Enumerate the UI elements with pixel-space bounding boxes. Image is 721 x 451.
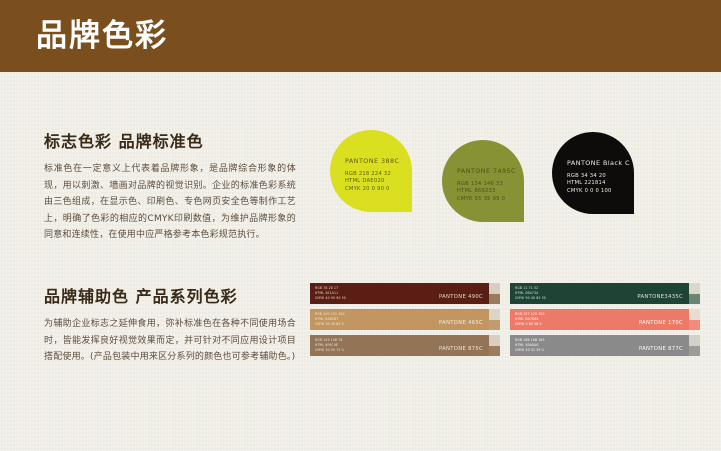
bar-cmyk: CMYK 90 40 85 30: [515, 296, 546, 301]
standard-color-droplet-7495c[interactable]: PANTONE 7495C RGB 134 146 33 HTML 869233…: [442, 140, 524, 222]
standard-color-droplet-388c[interactable]: PANTONE 388C RGB 218 224 32 HTML DAE020 …: [330, 130, 412, 212]
bar-cmyk: CMYK 30 50 72 0: [315, 348, 344, 353]
section-logo-colors: 标志色彩 品牌标准色 标准色在一定意义上代表着品牌形象，是品牌综合形象的体现，用…: [44, 128, 296, 244]
section-logo-colors-body: 标准色在一定意义上代表着品牌形象，是品牌综合形象的体现，用以刺激、墙画对品牌的视…: [44, 161, 296, 244]
droplet-rgb: RGB 34 34 20: [567, 173, 612, 180]
color-bar-specs: RGB 78 28 17 HTML 4E1A11 CMYK 40 90 90 5…: [315, 286, 346, 301]
tint-dark: [489, 320, 500, 331]
bar-cmyk: CMYK 0 60 58 0: [515, 322, 545, 327]
droplet-html: HTML 221814: [567, 180, 612, 187]
standard-color-droplet-black-c[interactable]: PANTONE Black C RGB 34 34 20 HTML 221814…: [552, 132, 634, 214]
droplet-specs: RGB 134 146 33 HTML 869233 CMYK 55 35 95…: [457, 181, 505, 203]
droplet-specs: RGB 218 224 32 HTML DAE020 CMYK 20 0 90 …: [345, 171, 391, 193]
color-bar-tint-strip: [489, 283, 500, 304]
color-bar-pantone-name: PANTONE 465C: [439, 320, 483, 326]
tint-light: [489, 309, 500, 320]
tint-dark: [489, 346, 500, 357]
color-bar-877c[interactable]: RGB 166 168 169 HTML A0A0A0 CMYK 50 41 3…: [510, 335, 700, 356]
droplet-rgb: RGB 134 146 33: [457, 181, 505, 188]
tint-dark: [689, 294, 700, 305]
section-aux-colors-body: 为辅助企业标志之延伸食用，弥补标准色在各种不同使用场合时，皆能发挥良好视觉效果而…: [44, 316, 296, 366]
color-bar-490c[interactable]: RGB 78 28 17 HTML 4E1A11 CMYK 40 90 90 5…: [310, 283, 500, 304]
color-bar-170c[interactable]: RGB 237 120 100 HTML ED7864 CMYK 0 60 58…: [510, 309, 700, 330]
droplet-cmyk: CMYK 0 0 0 100: [567, 188, 612, 195]
color-bar-875c[interactable]: RGB 143 108 78 HTML 8F6C4E CMYK 30 50 72…: [310, 335, 500, 356]
droplet-pantone-name: PANTONE 388C: [345, 157, 399, 165]
color-bar-specs: RGB 11 71 52 HTML 0B4734 CMYK 90 40 85 3…: [515, 286, 546, 301]
color-bar-fill: RGB 166 168 169 HTML A0A0A0 CMYK 50 41 3…: [510, 335, 689, 356]
color-bar-specs: RGB 200 151 100 HTML B48C67 CMYK 30 45 6…: [315, 312, 345, 327]
color-bar-fill: RGB 237 120 100 HTML ED7864 CMYK 0 60 58…: [510, 309, 689, 330]
tint-light: [689, 309, 700, 320]
tint-dark: [489, 294, 500, 305]
color-bar-3435c[interactable]: RGB 11 71 52 HTML 0B4734 CMYK 90 40 85 3…: [510, 283, 700, 304]
color-bar-pantone-name: PANTONE3435C: [637, 294, 683, 300]
tint-light: [689, 335, 700, 346]
color-bar-specs: RGB 237 120 100 HTML ED7864 CMYK 0 60 58…: [515, 312, 545, 327]
droplet-pantone-name: PANTONE 7495C: [457, 167, 516, 175]
auxiliary-color-bars: RGB 78 28 17 HTML 4E1A11 CMYK 40 90 90 5…: [310, 283, 710, 361]
droplet-html: HTML 869233: [457, 188, 505, 195]
droplet-cmyk: CMYK 55 35 95 0: [457, 196, 505, 203]
section-aux-colors-heading: 品牌辅助色 产品系列色彩: [44, 283, 296, 307]
color-bar-pantone-name: PANTONE 875C: [439, 346, 483, 352]
bar-cmyk: CMYK 40 90 90 50: [315, 296, 346, 301]
color-bar-fill: RGB 78 28 17 HTML 4E1A11 CMYK 40 90 90 5…: [310, 283, 489, 304]
section-logo-colors-heading: 标志色彩 品牌标准色: [44, 128, 296, 152]
color-bar-tint-strip: [489, 335, 500, 356]
auxiliary-bars-right-column: RGB 11 71 52 HTML 0B4734 CMYK 90 40 85 3…: [510, 283, 700, 361]
tint-dark: [689, 320, 700, 331]
page-title: 品牌色彩: [36, 15, 168, 57]
bar-cmyk: CMYK 50 41 39 0: [515, 348, 545, 353]
color-bar-tint-strip: [689, 283, 700, 304]
color-bar-fill: RGB 143 108 78 HTML 8F6C4E CMYK 30 50 72…: [310, 335, 489, 356]
tint-light: [489, 283, 500, 294]
tint-dark: [689, 346, 700, 357]
droplet-html: HTML DAE020: [345, 178, 391, 185]
droplet-cmyk: CMYK 20 0 90 0: [345, 186, 391, 193]
color-bar-specs: RGB 143 108 78 HTML 8F6C4E CMYK 30 50 72…: [315, 338, 344, 353]
header-band: 品牌色彩: [0, 0, 721, 72]
droplet-specs: RGB 34 34 20 HTML 221814 CMYK 0 0 0 100: [567, 173, 612, 195]
color-bar-fill: RGB 11 71 52 HTML 0B4734 CMYK 90 40 85 3…: [510, 283, 689, 304]
droplet-pantone-name: PANTONE Black C: [567, 159, 630, 167]
color-bar-pantone-name: PANTONE 490C: [439, 294, 483, 300]
color-bar-465c[interactable]: RGB 200 151 100 HTML B48C67 CMYK 30 45 6…: [310, 309, 500, 330]
color-bar-specs: RGB 166 168 169 HTML A0A0A0 CMYK 50 41 3…: [515, 338, 545, 353]
tint-light: [689, 283, 700, 294]
color-bar-fill: RGB 200 151 100 HTML B48C67 CMYK 30 45 6…: [310, 309, 489, 330]
droplet-rgb: RGB 218 224 32: [345, 171, 391, 178]
bar-cmyk: CMYK 30 45 65 0: [315, 322, 345, 327]
color-bar-pantone-name: PANTONE 170C: [639, 320, 683, 326]
tint-light: [489, 335, 500, 346]
color-bar-tint-strip: [489, 309, 500, 330]
color-bar-tint-strip: [689, 335, 700, 356]
section-aux-colors: 品牌辅助色 产品系列色彩 为辅助企业标志之延伸食用，弥补标准色在各种不同使用场合…: [44, 283, 296, 366]
auxiliary-bars-left-column: RGB 78 28 17 HTML 4E1A11 CMYK 40 90 90 5…: [310, 283, 500, 361]
standard-color-swatches: PANTONE 388C RGB 218 224 32 HTML DAE020 …: [330, 128, 700, 228]
color-bar-tint-strip: [689, 309, 700, 330]
color-bar-pantone-name: PANTONE 877C: [639, 346, 683, 352]
